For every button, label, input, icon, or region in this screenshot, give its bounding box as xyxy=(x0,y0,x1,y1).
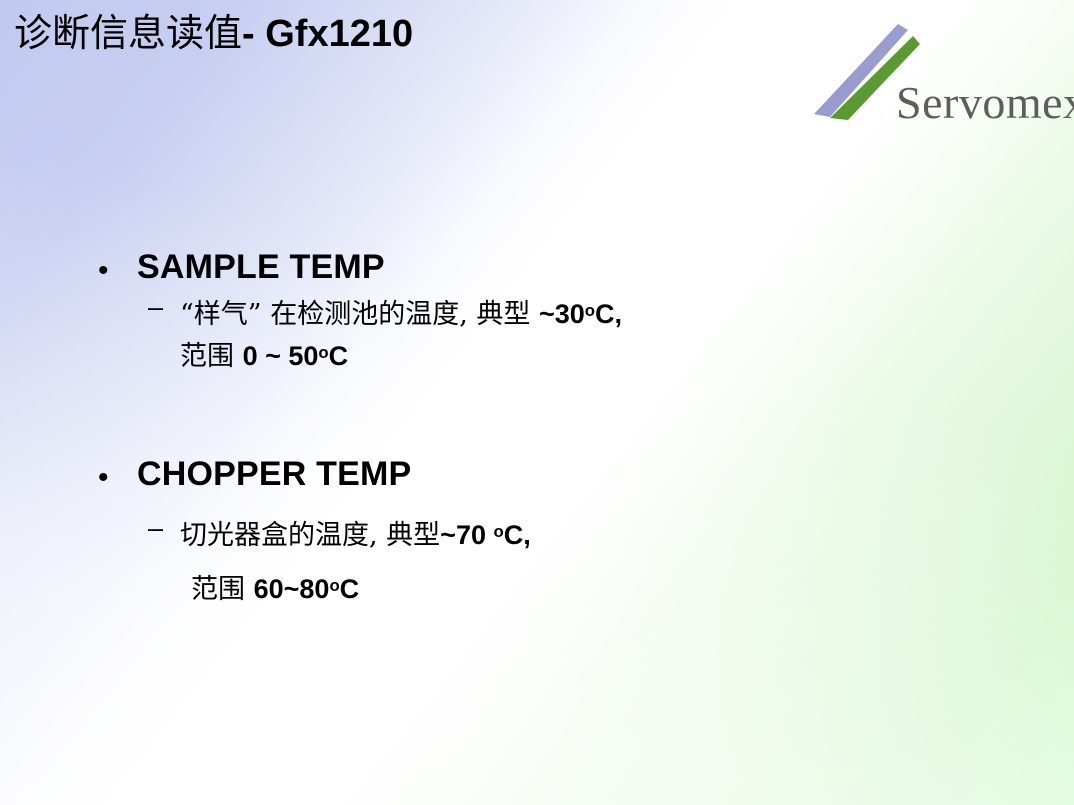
bullet-row: • SAMPLE TEMP xyxy=(0,248,1000,292)
slide-title-cjk: 诊断信息读值 xyxy=(14,11,242,55)
sub-bullet-text: 范围 60~80oC xyxy=(191,567,359,606)
servomex-logo: Servomex xyxy=(800,22,1066,134)
sub-bullet-text: 范围 0 ~ 50oC xyxy=(180,334,348,373)
sub-bullet-row-continued: 范围 60~80oC xyxy=(0,549,1000,599)
bullet-dot-icon: • xyxy=(98,463,109,493)
bullet-group-sample-temp: • SAMPLE TEMP – “样气” 在检测池的温度, 典型 ~30oC, … xyxy=(0,248,1000,376)
sub-bullet-row: – 切光器盒的温度, 典型~70 oC, xyxy=(0,499,1000,549)
sub-bullet-text: 切光器盒的温度, 典型~70 oC, xyxy=(180,513,531,552)
slide-title: 诊断信息读值- Gfx1210 xyxy=(14,12,413,57)
sub-bullet-text: “样气” 在检测池的温度, 典型 ~30oC, xyxy=(180,292,622,331)
bullet-label-chopper-temp: CHOPPER TEMP xyxy=(137,455,411,494)
sub-bullet-row: – “样气” 在检测池的温度, 典型 ~30oC, xyxy=(0,292,1000,334)
sub-bullet-row-continued: 范围 0 ~ 50oC xyxy=(0,334,1000,376)
servomex-wordmark: Servomex xyxy=(896,76,1074,129)
bullet-group-chopper-temp: • CHOPPER TEMP – 切光器盒的温度, 典型~70 oC, 范围 6… xyxy=(0,455,1000,599)
bullet-dot-icon: • xyxy=(98,256,109,286)
sub-bullet-dash-icon: – xyxy=(148,513,163,544)
sub-bullet-dash-icon: – xyxy=(148,292,163,323)
bullet-row: • CHOPPER TEMP xyxy=(0,455,1000,499)
slide-canvas: 诊断信息读值- Gfx1210 Servomex • SAMPLE TEMP –… xyxy=(0,0,1074,805)
bullet-label-sample-temp: SAMPLE TEMP xyxy=(137,248,385,287)
slide-title-latin: - Gfx1210 xyxy=(242,13,413,55)
